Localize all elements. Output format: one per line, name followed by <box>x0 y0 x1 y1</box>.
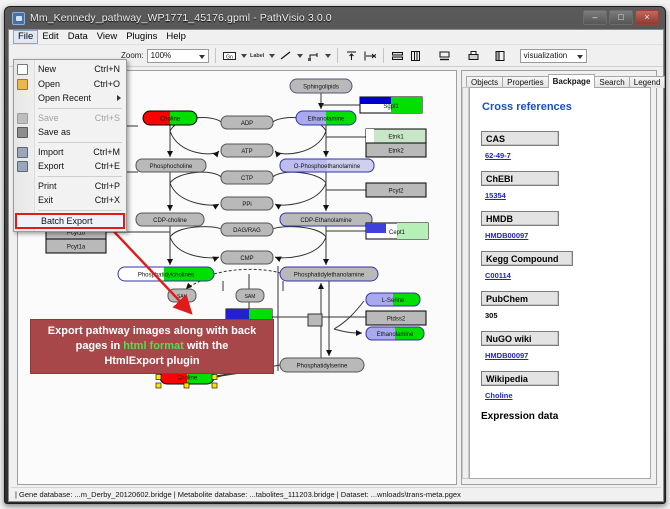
svg-text:PPi: PPi <box>242 202 251 208</box>
gene-product-icon[interactable]: Gn <box>222 48 237 63</box>
status-bar: | Gene database: ...m_Derby_20120602.bri… <box>11 487 661 500</box>
menu-item-print[interactable]: Print Ctrl+P <box>14 179 126 194</box>
svg-text:Choline: Choline <box>177 376 198 382</box>
application-window: Mm_Kennedy_pathway_WP1771_45176.gpml - P… <box>4 6 666 504</box>
svg-text:Sphingolipids: Sphingolipids <box>303 85 339 91</box>
menu-bar: File Edit Data View Plugins Help <box>9 30 663 45</box>
xref-value-wikipedia[interactable]: Choline <box>485 391 650 400</box>
side-panel-tabs: Objects Properties Backpage Search Legen… <box>466 73 656 88</box>
callout-box: Export pathway images along with back pa… <box>30 319 274 374</box>
xref-header-wikipedia: Wikipedia <box>481 371 559 386</box>
svg-text:Ptdss2: Ptdss2 <box>387 317 406 323</box>
callout-line-2b: with the <box>184 340 229 352</box>
svg-text:O-Phosphoethanolamine: O-Phosphoethanolamine <box>294 164 361 170</box>
pathvisio-app-icon <box>12 12 25 25</box>
svg-text:Sgpl1: Sgpl1 <box>383 104 399 110</box>
menu-item-open-recent[interactable]: Open Recent <box>14 91 126 106</box>
xref-value-nugo-wiki[interactable]: HMDB00097 <box>485 351 650 360</box>
align-top-icon[interactable] <box>344 48 359 63</box>
zoom-value: 100% <box>151 51 171 60</box>
save-disk-icon <box>17 113 28 124</box>
minimize-button[interactable]: – <box>583 10 607 25</box>
menu-item-batch-export[interactable]: Batch Export <box>15 213 125 229</box>
svg-text:SAH: SAH <box>177 294 188 300</box>
interaction-dropdown-icon[interactable] <box>325 54 331 58</box>
menu-item-import-accel: Ctrl+M <box>93 147 120 157</box>
svg-text:Cept1: Cept1 <box>389 230 406 236</box>
menu-item-new-accel: Ctrl+N <box>94 64 120 74</box>
tab-backpage[interactable]: Backpage <box>548 74 596 88</box>
align-left-icon[interactable] <box>362 48 377 63</box>
menu-item-exit-accel: Ctrl+X <box>95 195 120 205</box>
svg-text:Ethanolamine: Ethanolamine <box>308 117 345 123</box>
xref-header-pubchem: PubChem <box>481 291 559 306</box>
chevron-down-icon-2 <box>577 55 583 59</box>
gene-product-dropdown-icon[interactable] <box>241 54 247 58</box>
menu-file[interactable]: File <box>13 30 38 44</box>
svg-text:Choline: Choline <box>160 117 181 123</box>
svg-text:Phosphocholine: Phosphocholine <box>150 164 193 170</box>
maximize-button[interactable]: □ <box>609 10 633 25</box>
close-button[interactable]: × <box>635 10 659 25</box>
svg-text:Phosphatidylserine: Phosphatidylserine <box>297 364 348 370</box>
menu-separator-4 <box>38 210 122 211</box>
xref-value-kegg-compound[interactable]: C00114 <box>485 271 650 280</box>
menu-view[interactable]: View <box>93 30 122 44</box>
callout-line-2: pages in html format with the <box>76 339 229 354</box>
menu-edit[interactable]: Edit <box>38 30 63 44</box>
svg-text:Ethanolamine: Ethanolamine <box>377 332 414 338</box>
xref-header-cas: CAS <box>481 131 559 146</box>
menu-item-batch-export-label: Batch Export <box>41 216 93 226</box>
callout-highlight: html format <box>123 340 184 352</box>
menu-item-open-label: Open <box>38 79 60 89</box>
menu-item-save-accel: Ctrl+S <box>95 113 120 123</box>
interaction-icon[interactable] <box>306 48 321 63</box>
submenu-arrow-icon <box>117 95 121 101</box>
menu-item-import-label: Import <box>38 147 64 157</box>
menu-item-save-as-label: Save as <box>38 127 71 137</box>
window-title: Mm_Kennedy_pathway_WP1771_45176.gpml - P… <box>30 12 332 24</box>
expression-data-title: Expression data <box>481 411 650 422</box>
menu-item-new-label: New <box>38 64 56 74</box>
menu-item-open-accel: Ctrl+O <box>94 79 120 89</box>
chevron-down-icon <box>199 55 205 59</box>
svg-text:SAM: SAM <box>245 294 256 300</box>
print-icon[interactable] <box>466 48 481 63</box>
visualization-value: visualization <box>524 51 568 60</box>
new-document-icon <box>17 64 28 75</box>
xref-value-cas[interactable]: 62-49-7 <box>485 151 650 160</box>
menu-separator-1 <box>38 108 122 109</box>
svg-text:ATP: ATP <box>241 149 252 155</box>
menu-item-open-recent-label: Open Recent <box>38 93 91 103</box>
menu-item-exit[interactable]: Exit Ctrl+X <box>14 193 126 208</box>
status-text: | Gene database: ...m_Derby_20120602.bri… <box>15 490 461 499</box>
save-as-icon <box>17 127 28 138</box>
client-area: File Edit Data View Plugins Help Zoom: 1… <box>8 29 664 502</box>
file-menu-dropdown: New Ctrl+N Open Ctrl+O Open Recent Save <box>13 59 127 232</box>
menu-item-save: Save Ctrl+S <box>14 111 126 126</box>
menu-separator-2 <box>38 142 122 143</box>
svg-text:Pcyt1a: Pcyt1a <box>67 245 86 251</box>
menu-item-print-label: Print <box>38 181 57 191</box>
svg-text:ADP: ADP <box>241 121 253 127</box>
label-dropdown-icon[interactable] <box>269 54 275 58</box>
toolbar-separator-2 <box>337 48 338 63</box>
xref-header-kegg-compound: Kegg Compound <box>481 251 573 266</box>
side-panel: Objects Properties Backpage Search Legen… <box>461 70 657 485</box>
menu-plugins[interactable]: Plugins <box>122 30 162 44</box>
menu-item-exit-label: Exit <box>38 195 53 205</box>
cross-references-title: Cross references <box>482 101 650 113</box>
export-icon <box>17 161 28 172</box>
menu-separator-3 <box>38 176 122 177</box>
menu-item-open[interactable]: Open Ctrl+O <box>14 77 126 92</box>
xref-value-chebi[interactable]: 15354 <box>485 191 650 200</box>
open-folder-icon <box>17 79 28 90</box>
svg-text:Pcyt2: Pcyt2 <box>388 189 404 195</box>
label-icon[interactable]: Label <box>250 48 265 63</box>
callout-line-2a: pages in <box>76 340 124 352</box>
svg-text:Etnk1: Etnk1 <box>388 135 404 141</box>
window-controls: – □ × <box>583 10 659 25</box>
svg-text:Etnk2: Etnk2 <box>388 149 404 155</box>
stack-icon[interactable] <box>408 48 423 63</box>
zoom-combobox[interactable]: 100% <box>147 49 209 63</box>
menu-item-save-as[interactable]: Save as <box>14 125 126 140</box>
callout-line-1: Export pathway images along with back <box>48 324 256 339</box>
toolbar-separator <box>215 48 216 63</box>
visualization-combobox[interactable]: visualization <box>520 49 587 63</box>
menu-item-print-accel: Ctrl+P <box>95 181 120 191</box>
title-bar: Mm_Kennedy_pathway_WP1771_45176.gpml - P… <box>5 7 665 29</box>
menu-item-import[interactable]: Import Ctrl+M <box>14 145 126 160</box>
menu-item-export-accel: Ctrl+E <box>95 161 120 171</box>
svg-text:L-Serine: L-Serine <box>382 298 405 304</box>
xref-header-chebi: ChEBI <box>481 171 559 186</box>
menu-item-export-label: Export <box>38 161 64 171</box>
side-panel-scrollbar[interactable] <box>462 87 469 479</box>
svg-text:CMP: CMP <box>240 256 253 262</box>
backpage-content: Cross references CAS 62-49-7 ChEBI 15354… <box>469 87 651 479</box>
distribute-vertical-icon[interactable] <box>390 48 405 63</box>
svg-text:DAG/RAG: DAG/RAG <box>233 228 261 234</box>
xref-header-hmdb: HMDB <box>481 211 559 226</box>
import-icon <box>17 147 28 158</box>
menu-item-save-label: Save <box>38 113 59 123</box>
group-icon[interactable] <box>437 48 452 63</box>
screenshot-root: Mm_Kennedy_pathway_WP1771_45176.gpml - P… <box>0 0 670 509</box>
label-button-text: Label <box>250 53 264 59</box>
svg-text:CTP: CTP <box>241 176 253 182</box>
xref-header-nugo-wiki: NuGO wiki <box>481 331 559 346</box>
menu-data[interactable]: Data <box>64 30 93 44</box>
menu-item-export[interactable]: Export Ctrl+E <box>14 159 126 174</box>
svg-text:Phosphatidylethanolamine: Phosphatidylethanolamine <box>294 273 365 279</box>
svg-text:CDP-Ethanolamine: CDP-Ethanolamine <box>300 218 352 224</box>
svg-text:CDP-choline: CDP-choline <box>153 218 187 224</box>
properties-panel-icon[interactable] <box>493 48 508 63</box>
menu-item-new[interactable]: New Ctrl+N <box>14 62 126 77</box>
svg-text:Phosphatidylcholines: Phosphatidylcholines <box>138 273 194 279</box>
menu-help[interactable]: Help <box>162 30 191 44</box>
callout-line-3: HtmlExport plugin <box>104 354 199 369</box>
svg-text:Gn: Gn <box>226 54 233 60</box>
toolbar-separator-3 <box>383 48 384 63</box>
line-icon[interactable] <box>278 48 293 63</box>
xref-value-hmdb[interactable]: HMDB00097 <box>485 231 650 240</box>
xref-value-pubchem: 305 <box>485 311 650 320</box>
line-dropdown-icon[interactable] <box>297 54 303 58</box>
